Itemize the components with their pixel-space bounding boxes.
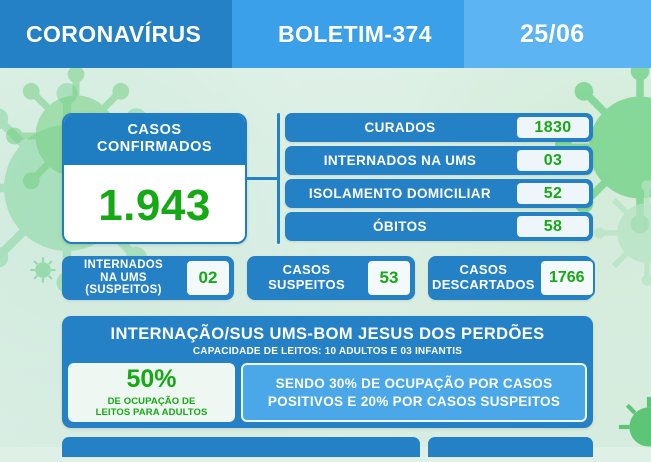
secondary-stats-row: INTERNADOSNA UMS(SUSPEITOS) 02 CASOSSUSP… (62, 256, 593, 300)
hospital-occupancy-panel: INTERNAÇÃO/SUS UMS-BOM JESUS DOS PERDÕES… (62, 316, 593, 428)
pill-value: 02 (185, 259, 231, 297)
occupancy-percent-value: 50% (126, 367, 176, 392)
pill-casos-descartados: CASOSDESCARTADOS 1766 (428, 256, 593, 300)
occupancy-percent-box: 50% DE OCUPAÇÃO DELEITOS PARA ADULTOS (68, 363, 235, 422)
stat-value: 1830 (515, 115, 591, 140)
confirmed-cases-title-line1: CASOS (68, 122, 241, 139)
occupancy-percent-caption: DE OCUPAÇÃO DELEITOS PARA ADULTOS (96, 396, 208, 419)
pill-internados-ums-suspeitos: INTERNADOSNA UMS(SUSPEITOS) 02 (62, 256, 234, 300)
pill-label: CASOSSUSPEITOS (247, 263, 366, 292)
stats-list: CURADOS 1830 INTERNADOS NA UMS 03 ISOLAM… (285, 113, 593, 245)
pill-value: 1766 (539, 259, 595, 297)
confirmed-cases-value: 1.943 (64, 165, 245, 244)
stat-row-obitos: ÓBITOS 58 (285, 212, 593, 241)
stat-value: 52 (515, 181, 591, 206)
bottom-partial-box-left (62, 437, 420, 457)
main-content: CASOS CONFIRMADOS 1.943 CURADOS 1830 INT… (0, 0, 651, 447)
occupancy-title: INTERNAÇÃO/SUS UMS-BOM JESUS DOS PERDÕES (62, 325, 593, 344)
occupancy-detail-box: SENDO 30% DE OCUPAÇÃO POR CASOSPOSITIVOS… (241, 363, 587, 422)
stat-value: 03 (515, 148, 591, 173)
pill-label: CASOSDESCARTADOS (428, 263, 539, 292)
pill-label: INTERNADOSNA UMS(SUSPEITOS) (62, 259, 185, 298)
stat-row-curados: CURADOS 1830 (285, 113, 593, 142)
occupancy-subtitle: CAPACIDADE DE LEITOS: 10 ADULTOS E 03 IN… (62, 346, 593, 357)
confirmed-cases-card: CASOS CONFIRMADOS 1.943 (62, 113, 247, 244)
pill-value: 53 (366, 259, 412, 297)
bracket-horizontal-line (246, 177, 280, 180)
stat-row-isolamento-domiciliar: ISOLAMENTO DOMICILIAR 52 (285, 179, 593, 208)
pill-casos-suspeitos: CASOSSUSPEITOS 53 (247, 256, 415, 300)
confirmed-cases-title: CASOS CONFIRMADOS (64, 115, 245, 165)
stat-value: 58 (515, 214, 591, 239)
occupancy-body: 50% DE OCUPAÇÃO DELEITOS PARA ADULTOS SE… (68, 363, 587, 422)
bracket-connector (258, 113, 280, 244)
confirmed-cases-title-line2: CONFIRMADOS (68, 139, 241, 156)
stat-row-internados-ums: INTERNADOS NA UMS 03 (285, 146, 593, 175)
bottom-partial-box-right (428, 437, 593, 457)
